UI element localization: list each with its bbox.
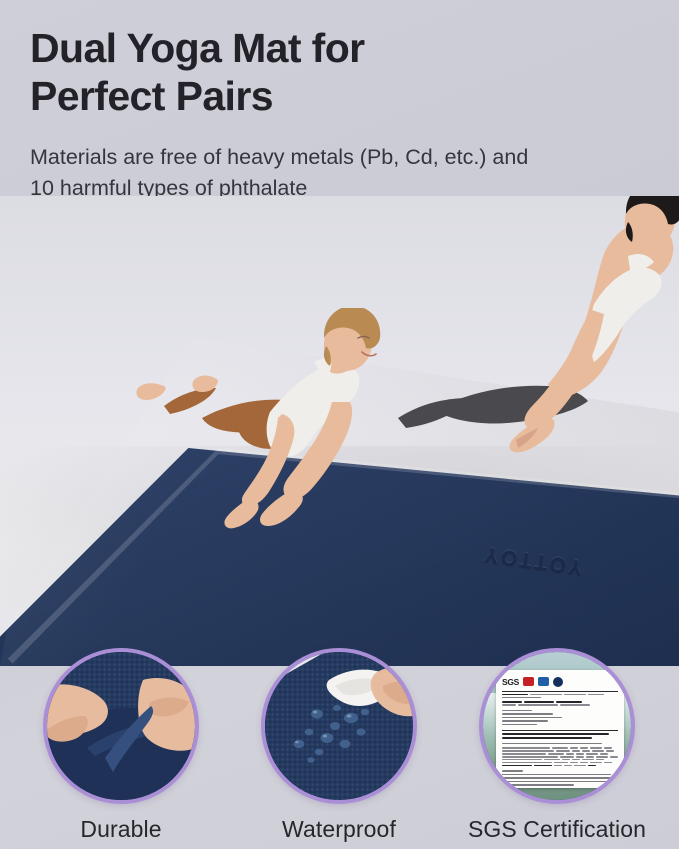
sgs-photo: SGS: [483, 652, 631, 800]
red-stamp-icon: [523, 677, 534, 686]
page-subtitle: Materials are free of heavy metals (Pb, …: [30, 142, 660, 203]
feature-durable: Durable: [22, 648, 220, 843]
feature-waterproof: Waterproof: [240, 648, 438, 843]
results-table: [502, 747, 618, 766]
hero-product-photo: YOTTOY: [0, 196, 679, 666]
page-title: Dual Yoga Mat for Perfect Pairs: [30, 24, 650, 121]
water-beads-and-towel-illustration: [265, 652, 413, 800]
sample-info-block: [502, 701, 618, 725]
divider: [502, 691, 618, 692]
feature-image-durable: [43, 648, 199, 804]
feature-row: Durable: [0, 648, 679, 849]
sgs-logo-text: SGS: [502, 677, 519, 687]
certificate-logo-row: SGS: [502, 675, 618, 688]
feature-caption-durable: Durable: [22, 816, 220, 843]
product-marketing-image: Dual Yoga Mat for Perfect Pairs Material…: [0, 0, 679, 849]
feature-image-waterproof: [261, 648, 417, 804]
durable-photo: [47, 652, 195, 800]
feature-caption-sgs: SGS Certification: [458, 816, 656, 843]
sgs-test-report-document: SGS: [496, 670, 624, 788]
feature-sgs-certification: SGS: [458, 648, 656, 843]
feature-caption-waterproof: Waterproof: [240, 816, 438, 843]
hands-stretching-mat-illustration: [47, 652, 195, 800]
report-header-row: [502, 694, 618, 695]
blue-stamp-icon: [538, 677, 549, 686]
child-figure: [118, 308, 448, 578]
waterproof-photo: [265, 652, 413, 800]
navy-stamp-icon: [553, 677, 563, 687]
feature-image-sgs: SGS: [479, 648, 635, 804]
